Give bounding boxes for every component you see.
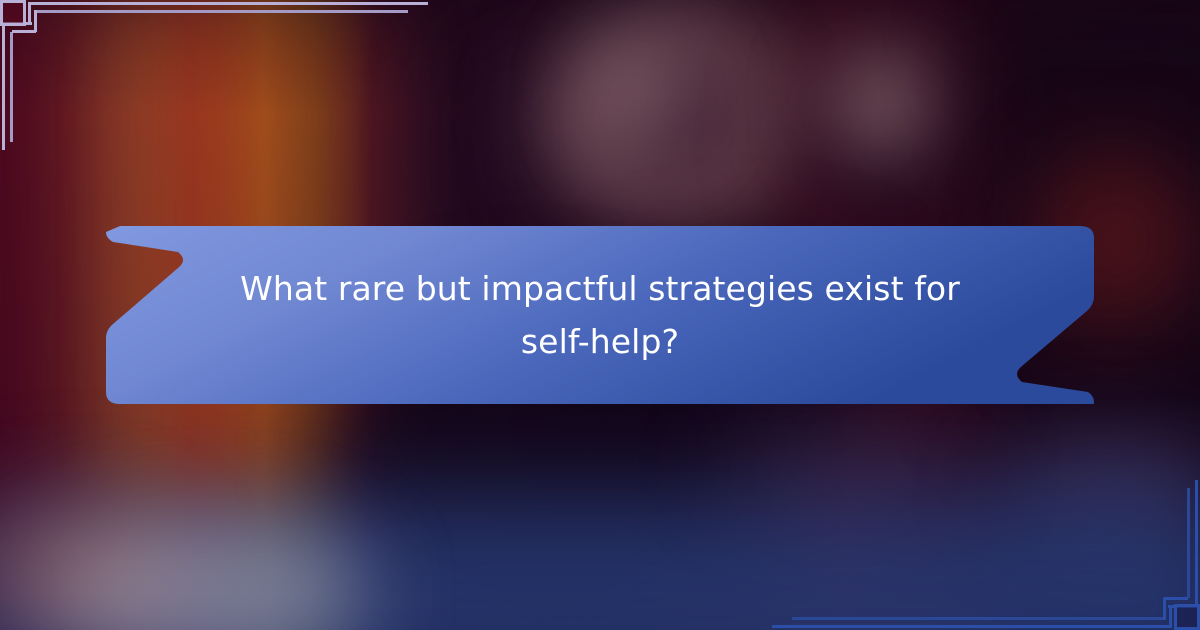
corner-frame-top-left-line-v2 (10, 32, 13, 142)
corner-frame-bottom-right-elbow-v2 (1163, 598, 1166, 620)
social-card: What rare but impactful strategies exist… (0, 0, 1200, 630)
corner-frame-bottom-right-square (1174, 604, 1200, 630)
corner-frame-top-left-elbow-h2 (12, 30, 36, 33)
ribbon-question-line-1: What rare but impactful strategies exist… (240, 262, 960, 315)
corner-frame-bottom-right-elbow-h2 (1164, 597, 1188, 600)
corner-frame-bottom-right-line-h2 (792, 617, 1166, 620)
corner-frame-top-left-line-v1 (2, 24, 5, 150)
background-blob-hand-left (600, 55, 685, 135)
corner-frame-bottom-right-line-v2 (1187, 488, 1190, 598)
corner-frame-top-left-square (0, 0, 26, 26)
question-ribbon: What rare but impactful strategies exist… (106, 226, 1094, 404)
corner-frame-top-left-elbow-v (28, 2, 31, 24)
corner-frame-top-left-elbow-v2 (34, 10, 37, 32)
corner-frame-top-left-line-h1 (28, 2, 428, 5)
corner-frame-top-left-line-h2 (34, 10, 408, 13)
background-blob-left-shadow (0, 0, 100, 520)
ribbon-question-line-2: self-help? (521, 315, 679, 368)
corner-frame-bottom-right-line-v1 (1195, 480, 1198, 606)
corner-frame-bottom-right-elbow-v (1169, 606, 1172, 628)
ribbon-question-text: What rare but impactful strategies exist… (106, 226, 1094, 404)
corner-frame-bottom-right-line-h1 (772, 625, 1172, 628)
background-blob-hand-right (835, 55, 930, 150)
